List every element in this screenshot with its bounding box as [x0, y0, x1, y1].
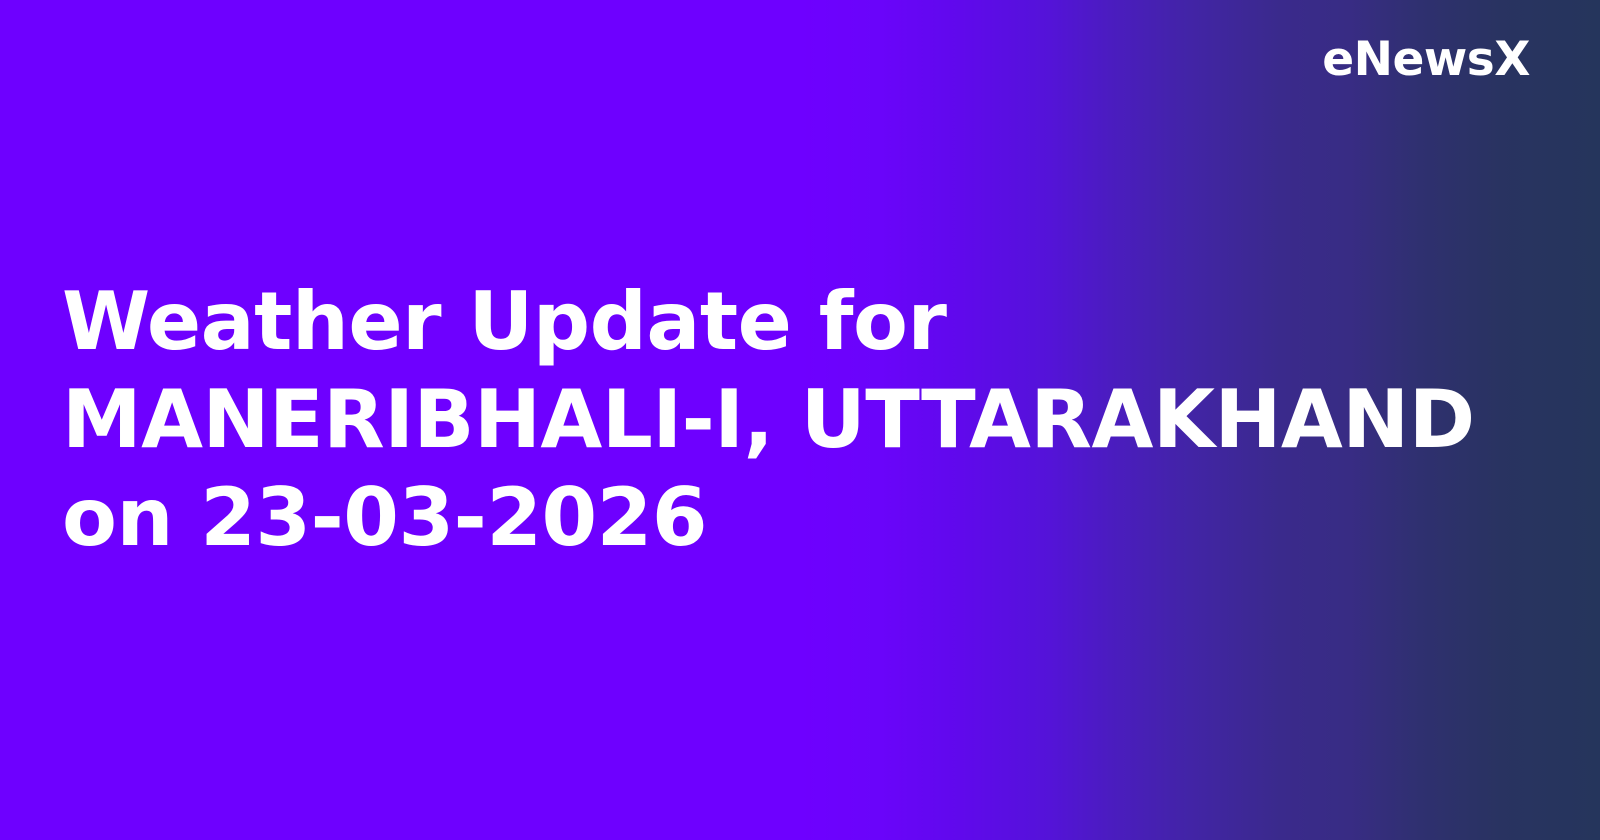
page-title: Weather Update for MANERIBHALI-I, UTTARA… [62, 273, 1507, 567]
news-banner-card: eNewsX Weather Update for MANERIBHALI-I,… [0, 0, 1600, 840]
headline-container: Weather Update for MANERIBHALI-I, UTTARA… [62, 0, 1522, 840]
